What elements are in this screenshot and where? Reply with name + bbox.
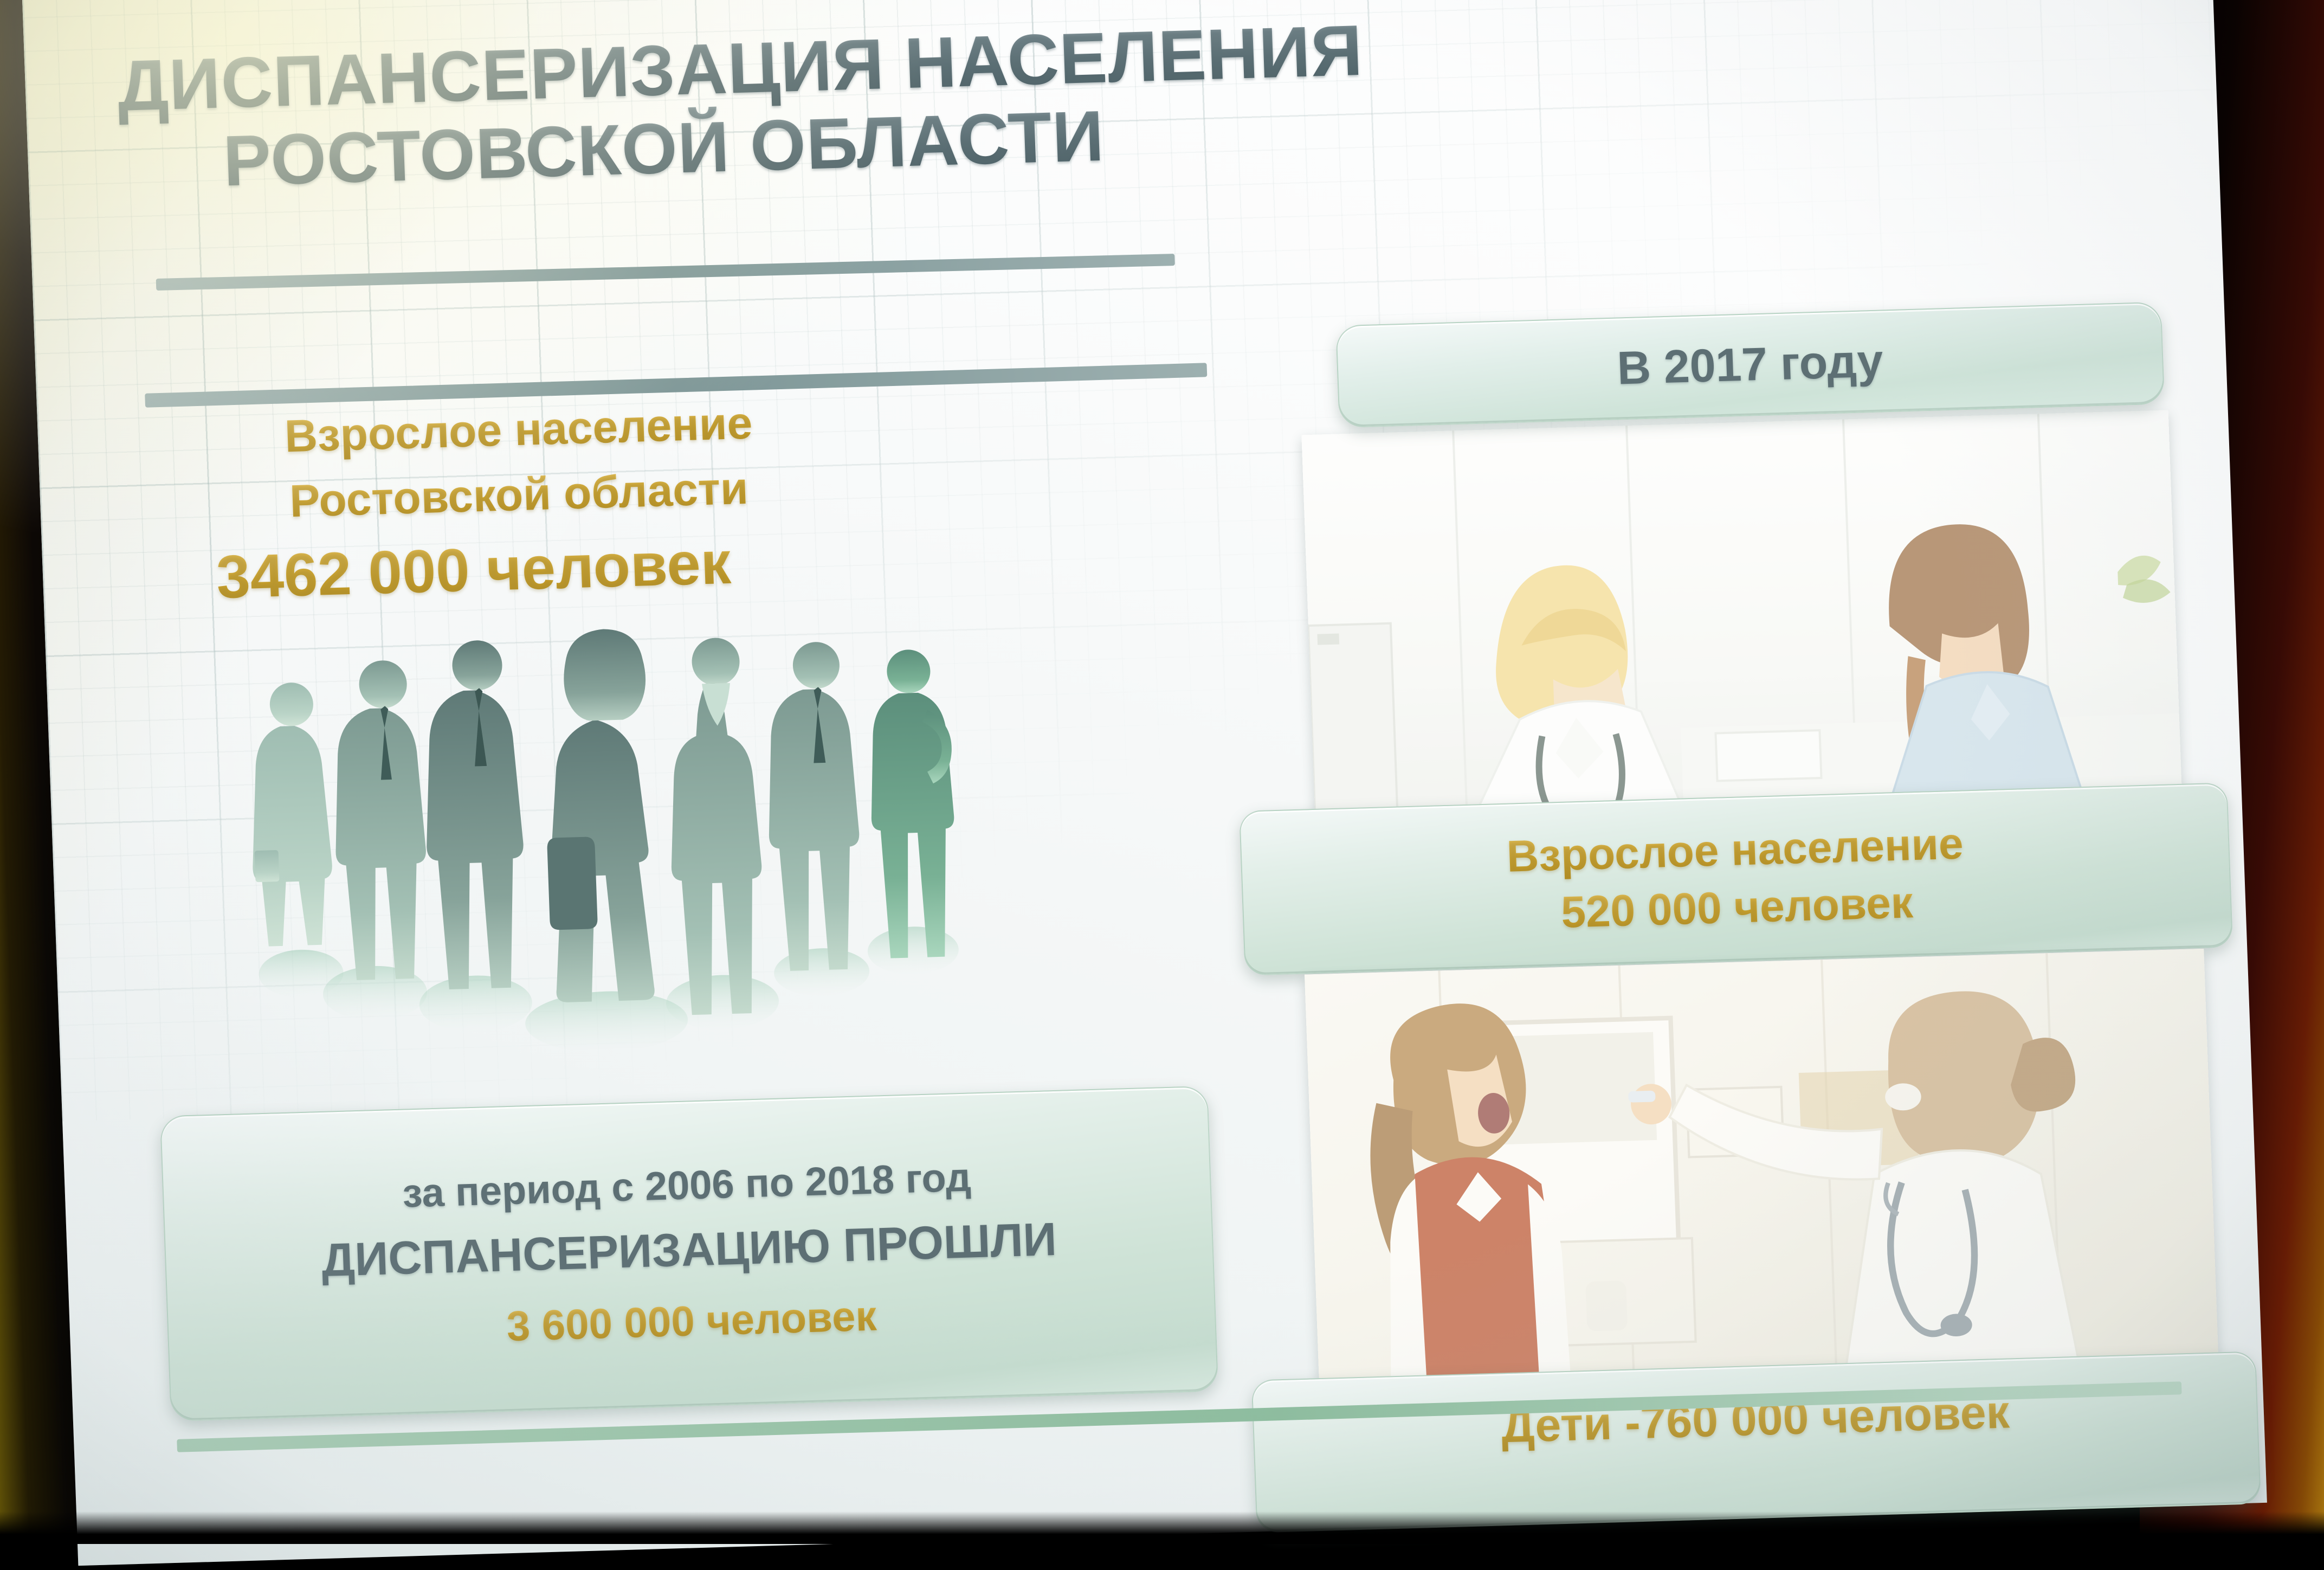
screening-completed-label: ДИСПАНСЕРИЗАЦИЮ ПРОШЛИ <box>321 1212 1058 1287</box>
people-silhouettes-graphic <box>224 615 997 1059</box>
adults-screened-label: Взрослое население <box>1506 818 1964 882</box>
screening-completed-count: 3 600 000 человек <box>506 1291 877 1351</box>
photo-pediatrician-with-child <box>1305 949 2219 1386</box>
adults-screened-panel: Взрослое население 520 000 человек <box>1239 782 2233 975</box>
projection-screen: ДИСПАНСЕРИЗАЦИЯ НАСЕЛЕНИЯ РОСТОВСКОЙ ОБЛ… <box>22 0 2267 1566</box>
room-backdrop: ДИСПАНСЕРИЗАЦИЯ НАСЕЛЕНИЯ РОСТОВСКОЙ ОБЛ… <box>0 0 2324 1544</box>
photo-doctor-with-adult-patient <box>1301 410 2181 814</box>
children-screened-panel: Дети -760 000 человек <box>1251 1351 2261 1533</box>
period-range-label: за период с 2006 по 2018 год <box>402 1154 972 1216</box>
period-summary-panel: за период с 2006 по 2018 год ДИСПАНСЕРИЗ… <box>160 1086 1218 1421</box>
slide-surface: ДИСПАНСЕРИЗАЦИЯ НАСЕЛЕНИЯ РОСТОВСКОЙ ОБЛ… <box>22 0 2267 1566</box>
adult-population-count: 3462 000 человек <box>215 527 732 612</box>
year-badge-label: В 2017 году <box>1616 334 1884 395</box>
room-bottom-shadow <box>0 1511 2324 1544</box>
adults-screened-count: 520 000 человек <box>1560 877 1914 938</box>
